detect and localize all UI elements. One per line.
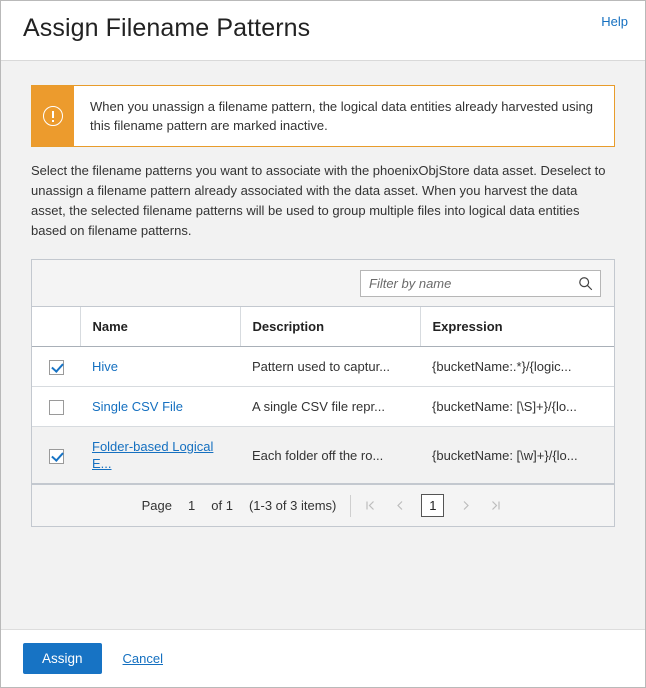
dialog-header: Assign Filename Patterns Help [1,1,645,61]
page-title: Assign Filename Patterns [23,14,310,43]
page-total: of 1 [211,498,233,513]
first-page-icon[interactable] [361,497,379,515]
column-header-checkbox [32,307,80,347]
item-range: (1-3 of 3 items) [249,498,336,513]
next-page-icon[interactable] [456,497,474,515]
help-link[interactable]: Help [601,14,628,29]
last-page-icon[interactable] [486,497,504,515]
row-checkbox[interactable] [49,400,64,415]
patterns-table: Name Description Expression Hive [32,307,614,484]
row-checkbox[interactable] [49,360,64,375]
row-description-cell: Each folder off the ro... [240,427,420,484]
row-checkbox-cell[interactable] [32,347,80,387]
column-header-description[interactable]: Description [240,307,420,347]
assign-filename-patterns-dialog: Assign Filename Patterns Help When you u… [0,0,646,688]
dialog-body: When you unassign a filename pattern, th… [1,61,645,630]
dialog-footer: Assign Cancel [1,630,645,687]
pattern-name-link[interactable]: Single CSV File [92,399,183,414]
table-row[interactable]: Single CSV File A single CSV file repr..… [32,387,614,427]
warning-message: When you unassign a filename pattern, th… [74,86,614,146]
row-expression-cell: {bucketName:.*}/{logic... [420,347,614,387]
row-name-cell: Hive [80,347,240,387]
column-header-expression[interactable]: Expression [420,307,614,347]
search-input[interactable] [361,271,600,296]
cancel-link[interactable]: Cancel [123,651,163,666]
previous-page-icon[interactable] [391,497,409,515]
row-expression-cell: {bucketName: [\S]+}/{lo... [420,387,614,427]
row-expression-cell: {bucketName: [\w]+}/{lo... [420,427,614,484]
pattern-name-link[interactable]: Hive [92,359,118,374]
warning-icon-bar [32,86,74,146]
pattern-name-link[interactable]: Folder-based Logical E... [92,439,213,471]
row-description-cell: A single CSV file repr... [240,387,420,427]
row-checkbox[interactable] [49,449,64,464]
column-header-name[interactable]: Name [80,307,240,347]
description-text: Select the filename patterns you want to… [31,161,615,241]
row-description-cell: Pattern used to captur... [240,347,420,387]
filter-field[interactable] [360,270,601,297]
pagination-bar: Page 1 of 1 (1-3 of 3 items) 1 [32,484,614,526]
row-name-cell: Single CSV File [80,387,240,427]
pagination-status: Page 1 of 1 (1-3 of 3 items) [142,495,352,517]
page-label: Page [142,498,172,513]
assign-button[interactable]: Assign [23,643,102,675]
row-checkbox-cell[interactable] [32,427,80,484]
warning-banner: When you unassign a filename pattern, th… [31,85,615,147]
table-toolbar [32,260,614,307]
patterns-table-card: Name Description Expression Hive [31,259,615,527]
exclamation-circle-icon [43,106,63,126]
row-name-cell: Folder-based Logical E... [80,427,240,484]
page-number: 1 [188,498,195,513]
table-row[interactable]: Hive Pattern used to captur... {bucketNa… [32,347,614,387]
pagination-controls: 1 [351,494,504,517]
row-checkbox-cell[interactable] [32,387,80,427]
table-header-row: Name Description Expression [32,307,614,347]
current-page-button[interactable]: 1 [421,494,444,517]
table-row[interactable]: Folder-based Logical E... Each folder of… [32,427,614,484]
